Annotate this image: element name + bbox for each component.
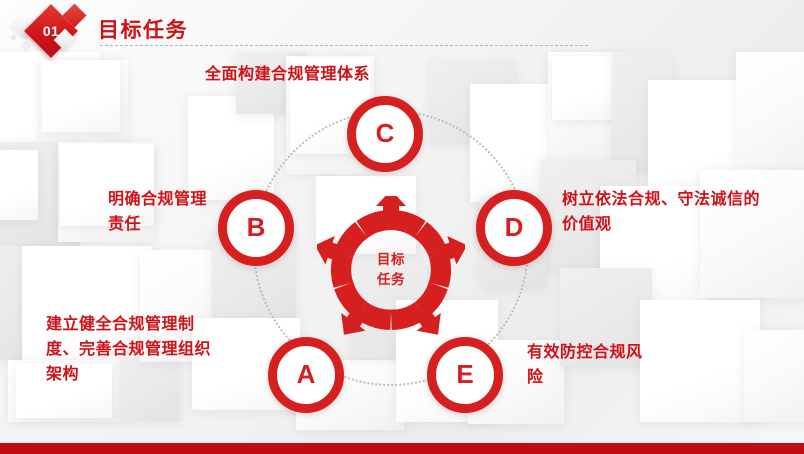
- node-letter-a: A: [297, 361, 316, 387]
- node-caption-a: 建立健全合规管理制度、完善合规管理组织架构: [46, 313, 226, 387]
- node-caption-b: 明确合规管理责任: [108, 188, 218, 238]
- node-caption-e: 有效防控合规风险: [527, 341, 657, 391]
- node-circle-d[interactable]: D: [476, 190, 552, 266]
- target-tasks-diagram: 目标 任务 C B D A E 全面构建合规管理体系 明确合规管理责任 树立依法…: [0, 0, 804, 443]
- node-letter-b: B: [247, 214, 266, 240]
- hub-center-label: 目标 任务: [317, 196, 465, 344]
- node-circle-a[interactable]: A: [268, 337, 344, 413]
- node-circle-c[interactable]: C: [347, 96, 423, 172]
- node-circle-e[interactable]: E: [427, 337, 503, 413]
- footer-bar: [0, 443, 804, 454]
- node-letter-d: D: [505, 214, 524, 240]
- node-caption-c: 全面构建合规管理体系: [205, 63, 375, 88]
- node-letter-c: C: [376, 120, 395, 146]
- slide-root: 01 目标任务: [0, 0, 804, 454]
- node-circle-b[interactable]: B: [218, 190, 294, 266]
- hub-label-line2: 任务: [377, 270, 405, 290]
- node-caption-d: 树立依法合规、守法诚信的价值观: [562, 188, 762, 238]
- hub-label-line1: 目标: [377, 250, 405, 270]
- node-letter-e: E: [456, 361, 473, 387]
